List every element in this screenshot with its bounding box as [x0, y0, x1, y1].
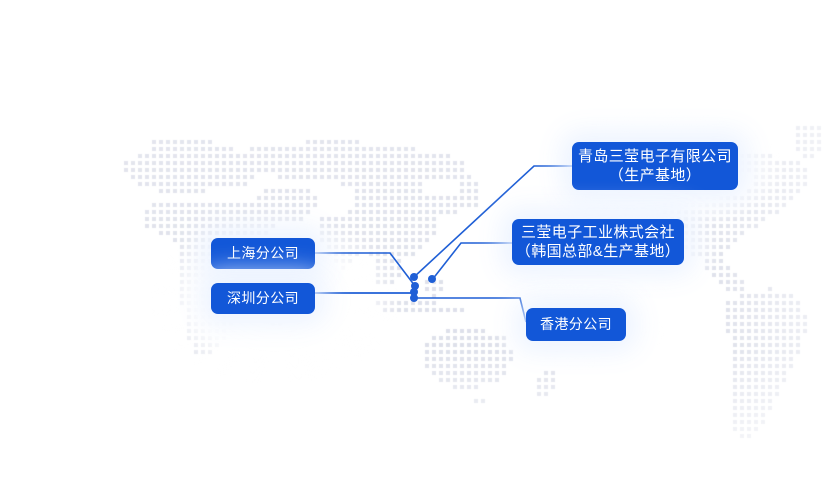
- label-hongkong[interactable]: 香港分公司: [526, 308, 626, 341]
- label-korea-line2: （韩国总部&生产基地）: [516, 242, 680, 261]
- label-qingdao-line2: （生产基地）: [609, 166, 701, 185]
- connector-lines: [0, 0, 824, 480]
- connector-shanghai: [315, 253, 415, 286]
- label-shenzhen-line1: 深圳分公司: [227, 290, 299, 308]
- label-shenzhen[interactable]: 深圳分公司: [211, 283, 315, 314]
- label-shanghai-line1: 上海分公司: [227, 245, 299, 263]
- label-shanghai[interactable]: 上海分公司: [211, 238, 315, 269]
- label-qingdao-line1: 青岛三莹电子有限公司: [578, 147, 732, 166]
- connector-hongkong: [414, 298, 526, 322]
- label-korea-hq[interactable]: 三莹电子工业株式会社 （韩国总部&生产基地）: [512, 219, 684, 265]
- label-korea-line1: 三莹电子工业株式会社: [521, 223, 675, 242]
- label-qingdao[interactable]: 青岛三莹电子有限公司 （生产基地）: [572, 142, 738, 190]
- marker-qingdao-dot[interactable]: [410, 273, 418, 281]
- label-hongkong-line1: 香港分公司: [540, 316, 612, 334]
- map-stage: 青岛三莹电子有限公司 （生产基地） 三莹电子工业株式会社 （韩国总部&生产基地）…: [0, 0, 824, 480]
- marker-korea-dot[interactable]: [428, 275, 436, 283]
- marker-hongkong-dot[interactable]: [410, 294, 418, 302]
